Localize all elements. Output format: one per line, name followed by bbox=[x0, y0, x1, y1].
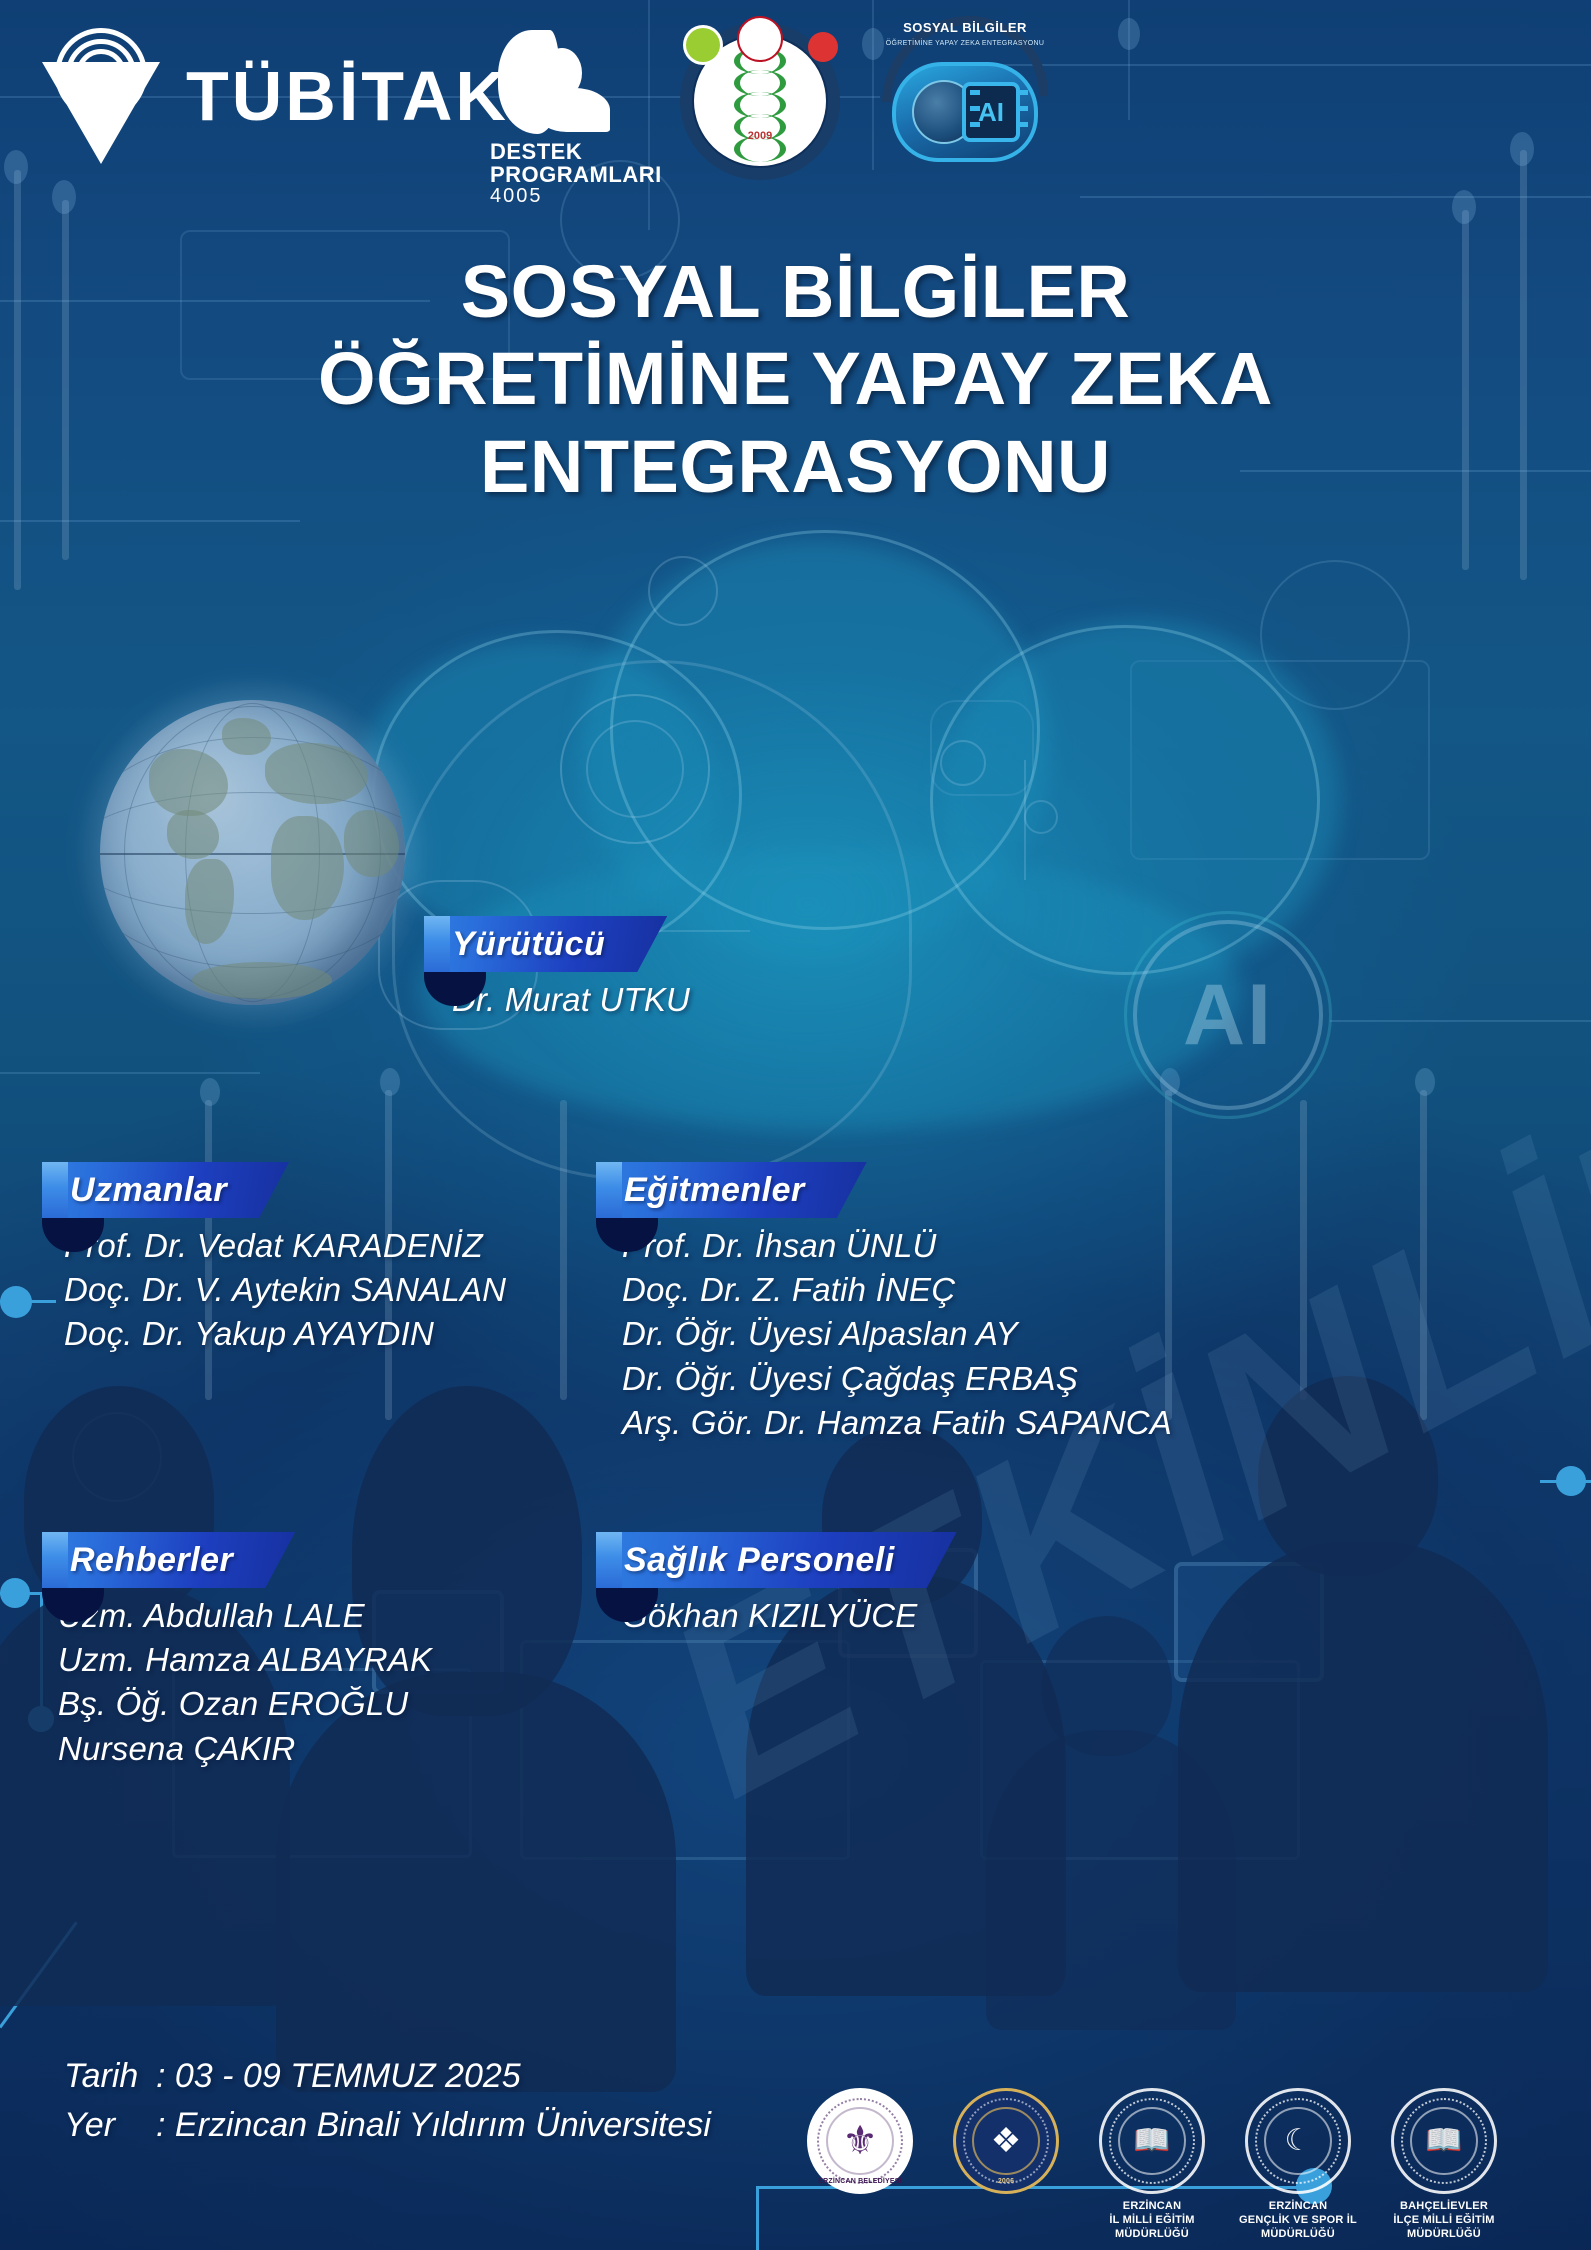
list-item: Dr. Öğr. Üyesi Alpaslan AY bbox=[622, 1312, 1172, 1356]
poster-root: AI ETKİNLİK bbox=[0, 0, 1591, 2250]
list-item: Nursena ÇAKIR bbox=[58, 1727, 432, 1771]
ribbon-yurutucu: Yürütücü bbox=[424, 916, 667, 972]
footer-logo-row: ⚜ ERZİNCAN BELEDİYESİ ❖ 2006 📖 ERZİNCAN … bbox=[800, 2088, 1560, 2238]
erzincan-il-mem-logo: 📖 ERZİNCAN İL MİLLİ EĞİTİM MÜDÜRLÜĞÜ bbox=[1092, 2088, 1212, 2241]
cloud-icon: AI bbox=[892, 62, 1038, 162]
list-item: Doç. Dr. Yakup AYAYDIN bbox=[64, 1312, 506, 1356]
torch-book-icon: 📖 bbox=[1133, 2126, 1170, 2156]
ai-circle-emblem: AI bbox=[1133, 920, 1323, 1110]
dna-helix-icon bbox=[734, 48, 786, 166]
destek-figure-icon bbox=[498, 30, 613, 138]
bahcelievler-ilce-mem-seal-icon: 📖 bbox=[1391, 2088, 1497, 2194]
list-item: Dr. Murat UTKU bbox=[452, 978, 690, 1022]
destek-line2: PROGRAMLARI bbox=[490, 163, 660, 186]
double-headed-eagle-icon: ⚜ bbox=[842, 2121, 878, 2161]
ribbon-saglik-personeli: Sağlık Personeli bbox=[596, 1532, 957, 1588]
tubitak-wordmark: TÜBİTAK bbox=[186, 56, 509, 136]
tubitak-mark-icon bbox=[42, 28, 160, 164]
list-item: Bş. Öğ. Ozan EROĞLU bbox=[58, 1682, 432, 1726]
erzbilim-crest-icon bbox=[737, 16, 783, 62]
erzbilim-year: 2009 bbox=[748, 130, 772, 142]
erzincan-belediyesi-seal-icon: ⚜ ERZİNCAN BELEDİYESİ bbox=[807, 2088, 913, 2194]
erzincan-belediyesi-ring-text: ERZİNCAN BELEDİYESİ bbox=[810, 2178, 910, 2185]
section-heading-yurutucu: Yürütücü bbox=[424, 916, 667, 972]
name-list-egitmenler: Prof. Dr. İhsan ÜNLÜ Doç. Dr. Z. Fatih İ… bbox=[596, 1224, 1172, 1445]
name-list-rehberler: Uzm. Abdullah LALE Uzm. Hamza ALBAYRAK B… bbox=[42, 1594, 432, 1771]
crescent-star-figure-icon: ☾ bbox=[1285, 2126, 1312, 2156]
list-item: Uzm. Abdullah LALE bbox=[58, 1594, 432, 1638]
title-line-2: ÖĞRETİMİNE YAPAY ZEKA bbox=[0, 335, 1591, 422]
sosyal-bilgiler-logo-top-text: SOSYAL BİLGİLER bbox=[880, 20, 1050, 35]
section-heading-rehberler: Rehberler bbox=[42, 1532, 295, 1588]
ribbon-rehberler: Rehberler bbox=[42, 1532, 295, 1588]
section-uzmanlar: Uzmanlar Prof. Dr. Vedat KARADENİZ Doç. … bbox=[42, 1162, 506, 1357]
title-line-1: SOSYAL BİLGİLER bbox=[0, 248, 1591, 335]
list-item: Dr. Öğr. Üyesi Çağdaş ERBAŞ bbox=[622, 1357, 1172, 1401]
section-heading-saglik-personeli: Sağlık Personeli bbox=[596, 1532, 957, 1588]
ribbon-uzmanlar: Uzmanlar bbox=[42, 1162, 289, 1218]
erzincan-genclik-spor-seal-icon: ☾ bbox=[1245, 2088, 1351, 2194]
footer-event-info: Tarih : 03 - 09 TEMMUZ 2025 Yer : Erzinc… bbox=[64, 2052, 711, 2151]
destek-code: 4005 bbox=[490, 186, 660, 207]
section-heading-uzmanlar: Uzmanlar bbox=[42, 1162, 289, 1218]
erzincan-belediyesi-logo: ⚜ ERZİNCAN BELEDİYESİ bbox=[800, 2088, 920, 2200]
list-item: Doç. Dr. Z. Fatih İNEÇ bbox=[622, 1268, 1172, 1312]
erzincan-bilim-sanat-merkezi-logo: 2009 bbox=[680, 22, 840, 180]
erzincan-genclik-spor-logo: ☾ ERZİNCAN GENÇLİK VE SPOR İL MÜDÜRLÜĞÜ bbox=[1238, 2088, 1358, 2241]
list-item: Gökhan KIZILYÜCE bbox=[622, 1594, 957, 1638]
ebyu-ring-text: 2006 bbox=[956, 2178, 1056, 2185]
ribbon-egitmenler: Eğitmenler bbox=[596, 1162, 867, 1218]
university-emblem-icon: ❖ bbox=[991, 2124, 1021, 2158]
flag-badge-icon bbox=[808, 32, 838, 62]
destek-programlari-logo: DESTEK PROGRAMLARI 4005 bbox=[490, 30, 660, 180]
erzincan-genclik-spor-label: ERZİNCAN GENÇLİK VE SPOR İL MÜDÜRLÜĞÜ bbox=[1238, 2200, 1358, 2241]
footer-date-label: Tarih bbox=[64, 2052, 156, 2101]
tubitak-logo: TÜBİTAK bbox=[42, 28, 509, 164]
section-saglik-personeli: Sağlık Personeli Gökhan KIZILYÜCE bbox=[596, 1532, 957, 1638]
header-logo-bar: TÜBİTAK DESTEK PROGRAMLARI 4005 2009 bbox=[0, 0, 1591, 185]
list-item: Prof. Dr. Vedat KARADENİZ bbox=[64, 1224, 506, 1268]
sosyal-bilgiler-logo-sub-text: ÖĞRETİMİNE YAPAY ZEKA ENTEGRASYONU bbox=[880, 40, 1050, 47]
erzincan-il-mem-label: ERZİNCAN İL MİLLİ EĞİTİM MÜDÜRLÜĞÜ bbox=[1092, 2200, 1212, 2241]
name-list-uzmanlar: Prof. Dr. Vedat KARADENİZ Doç. Dr. V. Ay… bbox=[42, 1224, 506, 1357]
footer-place-label: Yer bbox=[64, 2101, 156, 2150]
footer-date-value: : 03 - 09 TEMMUZ 2025 bbox=[156, 2052, 521, 2101]
section-rehberler: Rehberler Uzm. Abdullah LALE Uzm. Hamza … bbox=[42, 1532, 432, 1771]
erzincan-il-mem-seal-icon: 📖 bbox=[1099, 2088, 1205, 2194]
sosyal-bilgiler-ai-logo: SOSYAL BİLGİLER ÖĞRETİMİNE YAPAY ZEKA EN… bbox=[880, 18, 1050, 180]
poster-title: SOSYAL BİLGİLER ÖĞRETİMİNE YAPAY ZEKA EN… bbox=[0, 248, 1591, 510]
list-item: Arş. Gör. Dr. Hamza Fatih SAPANCA bbox=[622, 1401, 1172, 1445]
bahcelievler-ilce-mem-logo: 📖 BAHÇELİEVLER İLÇE MİLLİ EĞİTİM MÜDÜRLÜ… bbox=[1384, 2088, 1504, 2241]
list-item: Prof. Dr. İhsan ÜNLÜ bbox=[622, 1224, 1172, 1268]
footer-place-row: Yer : Erzincan Binali Yıldırım Üniversit… bbox=[64, 2101, 711, 2150]
list-item: Uzm. Hamza ALBAYRAK bbox=[58, 1638, 432, 1682]
world-globe-graphic bbox=[100, 700, 405, 1005]
footer-date-row: Tarih : 03 - 09 TEMMUZ 2025 bbox=[64, 2052, 711, 2101]
torch-book-icon: 📖 bbox=[1425, 2126, 1462, 2156]
footer-place-value: : Erzincan Binali Yıldırım Üniversitesi bbox=[156, 2101, 711, 2150]
atom-icon bbox=[686, 28, 720, 62]
ebyu-logo: ❖ 2006 bbox=[946, 2088, 1066, 2200]
section-egitmenler: Eğitmenler Prof. Dr. İhsan ÜNLÜ Doç. Dr.… bbox=[596, 1162, 1172, 1445]
bahcelievler-ilce-mem-label: BAHÇELİEVLER İLÇE MİLLİ EĞİTİM MÜDÜRLÜĞÜ bbox=[1384, 2200, 1504, 2241]
title-line-3: ENTEGRASYONU bbox=[0, 423, 1591, 510]
list-item: Doç. Dr. V. Aytekin SANALAN bbox=[64, 1268, 506, 1312]
destek-line1: DESTEK bbox=[490, 140, 660, 163]
section-yurutucu: Yürütücü Dr. Murat UTKU bbox=[424, 916, 690, 1022]
section-heading-egitmenler: Eğitmenler bbox=[596, 1162, 867, 1218]
ebyu-seal-icon: ❖ 2006 bbox=[953, 2088, 1059, 2194]
